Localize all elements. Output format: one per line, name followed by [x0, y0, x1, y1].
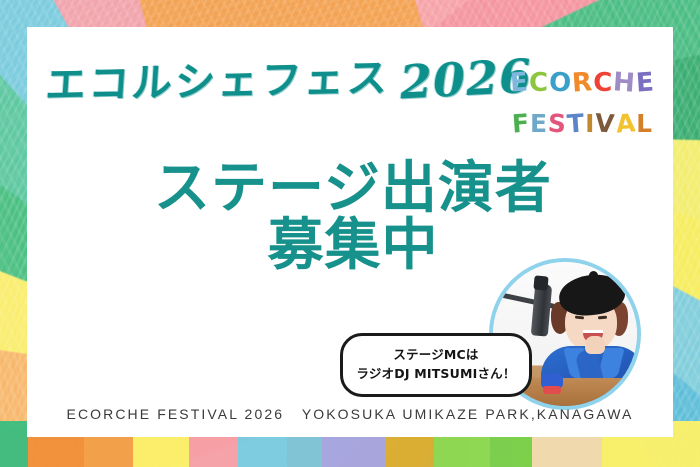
logo-letter: V — [595, 110, 616, 136]
logo-letter: L — [636, 111, 652, 136]
logo-letter: C — [529, 70, 548, 96]
hand-on-chin — [585, 336, 605, 354]
logo-letter: S — [547, 110, 567, 136]
page-title: ステージ出演者 募集中 — [0, 160, 700, 274]
footer-caption: ECORCHE FESTIVAL 2026 YOKOSUKA UMIKAZE P… — [0, 406, 700, 422]
poster-root: エコルシェフェス 2026 ECORCHE FESTIVAL ステージ出演者 募… — [0, 0, 700, 467]
speech-bubble-line-1: ステージMCは — [351, 345, 521, 364]
logo-letter: F — [511, 110, 530, 136]
logo-letter: I — [585, 111, 594, 136]
brush-title-jp: エコルシェフェス — [44, 58, 391, 105]
speech-bubble-line-2: ラジオDJ MITSUMIさん！ — [351, 364, 521, 383]
logo-letter: E — [635, 69, 655, 96]
beret-nub — [589, 271, 598, 280]
logo-letter: C — [593, 70, 612, 96]
logo-letter: T — [566, 110, 585, 136]
brush-title: エコルシェフェス 2026 — [46, 56, 532, 102]
speech-bubble-tail-fill — [503, 355, 519, 370]
page-title-line-1: ステージ出演者 — [0, 160, 700, 217]
microphone-top-icon — [533, 275, 548, 290]
logo-line-ecorche: ECORCHE — [498, 58, 666, 96]
logo-letter: R — [571, 69, 593, 96]
logo-line-festival: FESTIVAL — [498, 98, 666, 136]
ecorche-festival-logo: ECORCHE FESTIVAL — [498, 58, 666, 140]
logo-letter: O — [548, 69, 572, 96]
logo-letter: E — [530, 111, 547, 136]
logo-letter: A — [615, 110, 636, 136]
logo-letter: H — [612, 69, 636, 96]
logo-letter: E — [509, 69, 529, 96]
desk-object-red — [543, 386, 561, 394]
